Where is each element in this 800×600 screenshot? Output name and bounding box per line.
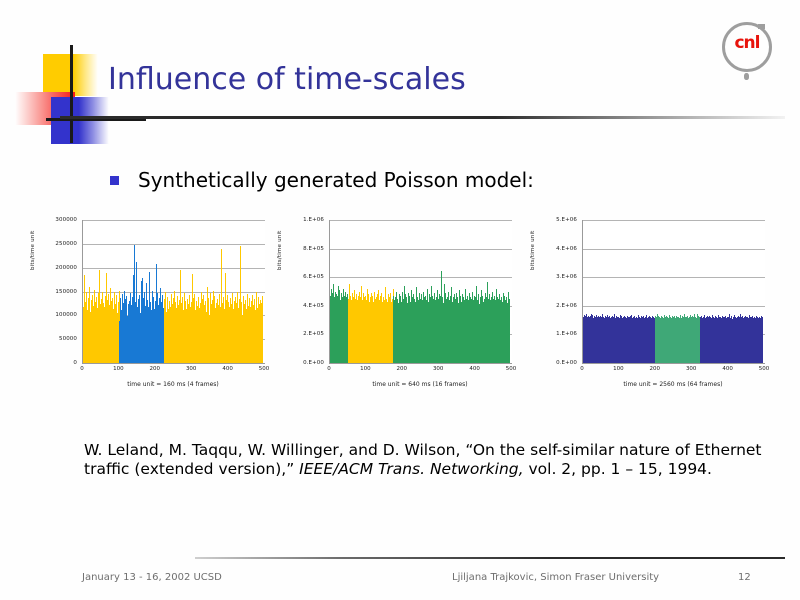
chart-y-tick: 8.E+05 — [303, 246, 324, 252]
page-title: Influence of time-scales — [108, 62, 466, 97]
chart-x-axis-label: time unit = 2560 ms (64 frames) — [582, 381, 764, 388]
chart-bars — [583, 220, 765, 363]
chart-y-tick: 2.E+05 — [303, 331, 324, 337]
chart-x-tick: 200 — [650, 366, 661, 372]
chart-y-tick: 200000 — [55, 265, 77, 271]
chart-x-tick: 200 — [397, 366, 408, 372]
chart-plot-area — [82, 220, 265, 364]
chart-y-tick: 5.E+06 — [556, 217, 577, 223]
citation-journal: IEEE/ACM Trans. Networking, — [299, 460, 523, 478]
chart-x-tick: 500 — [506, 366, 517, 372]
chart-bars — [83, 220, 265, 363]
charts-row: bits/time unit30000025000020000015000010… — [0, 218, 800, 413]
chart-x-tick: 100 — [113, 366, 124, 372]
footer-author: Ljiljana Trajkovic, Simon Fraser Univers… — [452, 572, 659, 583]
chart-x-tick: 100 — [613, 366, 624, 372]
slide-footer: January 13 - 16, 2002 UCSD Ljiljana Traj… — [0, 572, 800, 588]
citation-text: W. Leland, M. Taqqu, W. Willinger, and D… — [84, 441, 772, 479]
chart-y-axis-ticks: 300000250000200000150000100000500000 — [38, 218, 80, 363]
chart-y-axis-ticks: 1.E+068.E+056.E+054.E+052.E+050.E+00 — [285, 218, 327, 363]
chart-y-tick: 0.E+00 — [303, 360, 324, 366]
chart-y-tick: 250000 — [55, 241, 77, 247]
chart-x-tick: 500 — [259, 366, 270, 372]
chart-x-tick: 200 — [150, 366, 161, 372]
chart-y-tick: 1.E+06 — [556, 331, 577, 337]
chart-x-tick: 300 — [433, 366, 444, 372]
bullet-item-label: Synthetically generated Poisson model: — [138, 168, 534, 192]
chart-x-axis-ticks: 0100200300400500 — [329, 366, 511, 376]
chart-y-tick: 4.E+06 — [556, 246, 577, 252]
chart-x-tick: 400 — [469, 366, 480, 372]
chart-y-tick: 4.E+05 — [303, 303, 324, 309]
cnl-logo-text: cnl — [718, 33, 776, 53]
chart-plot-area — [582, 220, 765, 364]
cnl-nub-top-icon — [758, 24, 765, 29]
chart-x-tick: 100 — [360, 366, 371, 372]
chart-x-tick: 400 — [722, 366, 733, 372]
chart-bars — [330, 220, 512, 363]
chart-x-tick: 500 — [759, 366, 770, 372]
chart-y-tick: 0 — [73, 360, 77, 366]
footer-page-number: 12 — [738, 572, 751, 583]
chart-x-tick: 400 — [222, 366, 233, 372]
chart-x-axis-ticks: 0100200300400500 — [582, 366, 764, 376]
chart-timescale-2560ms: bits/time unit5.E+064.E+063.E+062.E+061.… — [528, 218, 778, 413]
chart-y-tick: 100000 — [55, 312, 77, 318]
footer-date: January 13 - 16, 2002 UCSD — [82, 572, 222, 583]
chart-timescale-160ms: bits/time unit30000025000020000015000010… — [28, 218, 278, 413]
footer-divider — [195, 557, 785, 559]
chart-y-tick: 150000 — [55, 289, 77, 295]
chart-x-tick: 300 — [686, 366, 697, 372]
chart-y-tick: 50000 — [59, 336, 77, 342]
chart-x-axis-label: time unit = 640 ms (16 frames) — [329, 381, 511, 388]
chart-x-axis-ticks: 0100200300400500 — [82, 366, 264, 376]
chart-y-axis-label: bits/time unit — [530, 230, 536, 270]
chart-y-tick: 2.E+06 — [556, 303, 577, 309]
title-divider — [60, 116, 785, 119]
chart-y-tick: 1.E+06 — [303, 217, 324, 223]
chart-x-axis-label: time unit = 160 ms (4 frames) — [82, 381, 264, 388]
cnl-logo: cnl — [718, 20, 778, 84]
deco-vertical-line — [70, 45, 73, 143]
chart-x-tick: 0 — [80, 366, 84, 372]
bullet-square-icon — [110, 176, 119, 185]
citation-part-2: vol. 2, pp. 1 – 15, 1994. — [524, 460, 712, 478]
chart-timescale-640ms: bits/time unit1.E+068.E+056.E+054.E+052.… — [275, 218, 525, 413]
chart-x-tick: 300 — [186, 366, 197, 372]
chart-y-tick: 0.E+00 — [556, 360, 577, 366]
chart-y-axis-label: bits/time unit — [277, 230, 283, 270]
chart-y-axis-label: bits/time unit — [30, 230, 36, 270]
bullet-item: Synthetically generated Poisson model: — [110, 168, 534, 192]
chart-x-tick: 0 — [327, 366, 331, 372]
chart-plot-area — [329, 220, 512, 364]
chart-y-tick: 300000 — [55, 217, 77, 223]
chart-y-axis-ticks: 5.E+064.E+063.E+062.E+061.E+060.E+00 — [538, 218, 580, 363]
cnl-nub-bottom-icon — [744, 73, 749, 80]
chart-y-tick: 3.E+06 — [556, 274, 577, 280]
chart-x-tick: 0 — [580, 366, 584, 372]
chart-y-tick: 6.E+05 — [303, 274, 324, 280]
